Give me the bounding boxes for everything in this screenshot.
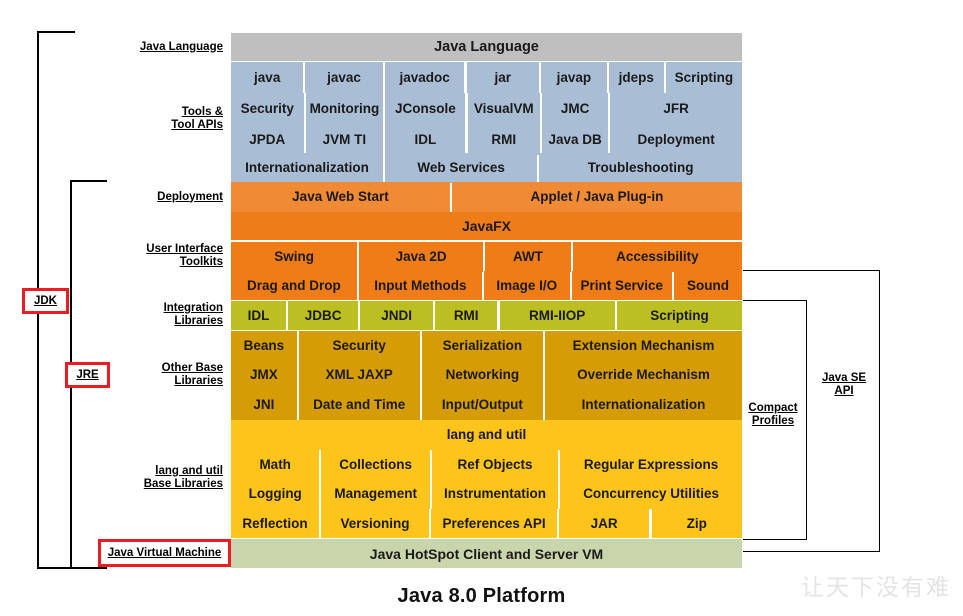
java-language-cell-1: Java Language	[231, 33, 742, 61]
java-se-api-line-2: API	[834, 385, 853, 398]
jre-label-text: JRE	[76, 369, 98, 382]
cell-label: jdeps	[619, 71, 654, 85]
base-libraries-row-3-cell-3: Preferences API	[431, 509, 557, 538]
ui-toolkits-row-2-cell-3: Image I/O	[484, 271, 570, 300]
cell-label: Print Service	[581, 279, 664, 293]
java-se-api-bracket-top-arm	[743, 270, 880, 271]
label-ui-line-2: Toolkits	[180, 256, 223, 269]
compact-profiles-bracket-bottom	[743, 539, 807, 540]
tools-row-2-cell-2: Monitoring	[306, 93, 384, 124]
cell-label: Java DB	[548, 133, 601, 147]
compact-profiles-label: Compact Profiles	[740, 400, 806, 430]
cell-label: XML JAXP	[326, 368, 393, 382]
other-base-row-1-cell-4: Extension Mechanism	[545, 331, 742, 360]
cell-label: JDBC	[305, 309, 342, 323]
other-base-row-2-cell-4: Override Mechanism	[545, 360, 742, 390]
tools-row-4-cell-2: Web Services	[385, 153, 537, 183]
other-base-row-1-cell-1: Beans	[231, 331, 297, 360]
label-other-base-line-2: Libraries	[174, 375, 223, 388]
label-integration-libraries: Integration Libraries	[110, 300, 223, 330]
ui-toolkits-row-2-cell-1: Drag and Drop	[231, 271, 357, 300]
label-integration-line-2: Libraries	[174, 315, 223, 328]
label-deployment: Deployment	[110, 188, 223, 206]
label-deployment-line-1: Deployment	[157, 191, 223, 204]
cell-label: Logging	[249, 487, 302, 501]
integration-libraries-row-cell-1: IDL	[231, 301, 286, 330]
java-se-api-line-1: Java SE	[822, 372, 866, 385]
base-libraries-row-3-cell-1: Reflection	[231, 509, 319, 538]
cell-label: IDL	[248, 309, 270, 323]
jdk-bracket-top	[37, 31, 75, 33]
tools-row-3-cell-5: Java DB	[542, 124, 608, 155]
ui-toolkits-row-1-cell-2: Java 2D	[359, 242, 483, 272]
cell-label: Override Mechanism	[577, 368, 710, 382]
cell-label: JAR	[591, 517, 618, 531]
cell-label: Ref Objects	[458, 458, 533, 472]
label-integration-line-1: Integration	[164, 302, 223, 315]
cell-label: java	[254, 71, 280, 85]
other-base-row-3-cell-2: Date and Time	[299, 390, 420, 420]
tools-row-2-cell-5: JMC	[542, 93, 608, 124]
cell-label: Scripting	[675, 71, 734, 85]
tools-row-1-cell-3: javadoc	[385, 62, 465, 93]
tools-row-3-cell-3: IDL	[385, 124, 465, 155]
label-user-interface-toolkits: User Interface Toolkits	[110, 241, 223, 271]
tools-row-2-cell-6: JFR	[610, 93, 742, 124]
base-libraries-row-1-cell-3: Ref Objects	[432, 450, 558, 479]
tools-row-3-cell-4: RMI	[468, 124, 541, 155]
cell-label: Security	[333, 339, 386, 353]
cell-label: jar	[494, 71, 511, 85]
label-java-language-line-1: Java Language	[140, 41, 223, 54]
java-se-api-label: Java SE API	[810, 370, 878, 400]
other-base-row-2-cell-3: Networking	[422, 360, 543, 390]
cell-label: JNDI	[381, 309, 412, 323]
label-java-virtual-machine: Java Virtual Machine	[98, 539, 231, 567]
cell-label: Reflection	[242, 517, 307, 531]
java-platform-diagram: JDK JRE Compact Profiles Java SE API Jav…	[0, 0, 963, 616]
other-base-row-1-cell-2: Security	[299, 331, 420, 360]
cell-label: Java HotSpot Client and Server VM	[370, 547, 603, 561]
base-libraries-row-3-cell-4: JAR	[559, 509, 650, 538]
cell-label: Zip	[687, 517, 707, 531]
tools-row-3-cell-6: Deployment	[610, 124, 742, 155]
cell-label: Accessibility	[616, 250, 699, 264]
ui-toolkits-row-2-cell-4: Print Service	[572, 271, 673, 300]
ui-toolkits-row-1-cell-3: AWT	[485, 242, 571, 272]
cell-label: Monitoring	[310, 102, 380, 116]
ui-toolkits-row-2-cell-2: Input Methods	[359, 271, 482, 300]
jvm-row-cell-1: Java HotSpot Client and Server VM	[231, 539, 742, 568]
cell-label: VisualVM	[474, 102, 534, 116]
cell-label: JMX	[250, 368, 278, 382]
integration-libraries-row-cell-2: JDBC	[288, 301, 358, 330]
compact-profiles-line-1: Compact	[748, 402, 797, 415]
cell-label: javadoc	[399, 71, 449, 85]
cell-label: Java 2D	[396, 250, 447, 264]
cell-label: Scripting	[650, 309, 709, 323]
jdk-label-text: JDK	[34, 295, 57, 308]
cell-label: Preferences API	[443, 517, 546, 531]
other-base-row-3-cell-3: Input/Output	[422, 390, 543, 420]
cell-label: Management	[334, 487, 417, 501]
tools-row-3-cell-2: JVM TI	[306, 124, 384, 155]
cell-label: lang and util	[447, 428, 527, 442]
compact-profiles-bracket-top	[743, 300, 807, 301]
base-libraries-row-3-cell-2: Versioning	[321, 509, 429, 538]
base-libraries-row-2-cell-1: Logging	[231, 479, 319, 509]
label-other-base-line-1: Other Base	[162, 362, 223, 375]
javafx-row-cell-1: JavaFX	[231, 212, 742, 240]
cell-label: Java Language	[434, 40, 539, 55]
cell-label: RMI-IIOP	[529, 309, 585, 323]
cell-label: Versioning	[341, 517, 410, 531]
deployment-row-cell-1: Java Web Start	[231, 182, 450, 212]
cell-label: Collections	[339, 458, 412, 472]
cell-label: IDL	[415, 133, 437, 147]
cell-label: Swing	[274, 250, 314, 264]
integration-libraries-row-cell-6: Scripting	[617, 301, 742, 330]
label-tools-line-1: Tools &	[182, 106, 223, 119]
base-libraries-row-3-cell-5: Zip	[652, 509, 743, 538]
integration-libraries-row-cell-4: RMI	[435, 301, 498, 330]
label-lang-and-util-base-libraries: lang and util Base Libraries	[110, 463, 223, 493]
tools-row-1-cell-6: jdeps	[609, 62, 664, 93]
cell-label: JConsole	[395, 102, 456, 116]
integration-libraries-row-cell-5: RMI-IIOP	[500, 301, 615, 330]
cell-label: Input/Output	[442, 398, 523, 412]
other-base-row-3-cell-4: Internationalization	[545, 390, 742, 420]
cell-label: Security	[241, 102, 294, 116]
label-java-language: Java Language	[110, 38, 223, 56]
tools-row-2-cell-3: JConsole	[385, 93, 465, 124]
other-base-row-2-cell-2: XML JAXP	[299, 360, 420, 390]
tools-row-1-cell-5: javap	[541, 62, 607, 93]
cell-label: Sound	[687, 279, 729, 293]
compact-profiles-line-2: Profiles	[752, 415, 794, 428]
cell-label: Deployment	[637, 133, 714, 147]
label-jvm-line-1: Java Virtual Machine	[108, 547, 222, 560]
java-se-api-bracket-spine	[879, 270, 880, 552]
label-lang-util-line-2: Base Libraries	[144, 478, 223, 491]
tools-row-3-cell-1: JPDA	[231, 124, 304, 155]
label-tools-line-2: Tool APIs	[171, 119, 223, 132]
tools-row-1-cell-2: javac	[305, 62, 382, 93]
java-se-api-bracket-bottom-arm	[743, 551, 880, 552]
watermark: 让天下没有难	[801, 568, 951, 602]
lang-and-util-row-cell-1: lang and util	[231, 420, 742, 450]
tools-row-2-cell-1: Security	[231, 93, 304, 124]
other-base-row-3-cell-1: JNI	[231, 390, 297, 420]
tools-row-2-cell-4: VisualVM	[468, 93, 541, 124]
ui-toolkits-row-1-cell-1: Swing	[231, 242, 357, 272]
cell-label: Beans	[244, 339, 285, 353]
base-libraries-row-1-cell-1: Math	[231, 450, 319, 479]
cell-label: javac	[327, 71, 361, 85]
cell-label: Image I/O	[496, 279, 557, 293]
deployment-row-cell-2: Applet / Java Plug-in	[452, 182, 742, 212]
cell-label: JavaFX	[462, 219, 511, 233]
cell-label: Applet / Java Plug-in	[531, 190, 664, 204]
cell-label: Internationalization	[245, 161, 369, 175]
cell-label: Concurrency Utilities	[583, 487, 719, 501]
cell-label: AWT	[513, 250, 543, 264]
tools-row-1-cell-7: Scripting	[666, 62, 742, 93]
cell-label: Serialization	[443, 339, 523, 353]
tools-row-1-cell-4: jar	[467, 62, 539, 93]
cell-label: Regular Expressions	[584, 458, 718, 472]
cell-label: Instrumentation	[444, 487, 546, 501]
compact-profiles-bracket-spine	[806, 300, 807, 540]
ui-toolkits-row-2-cell-5: Sound	[674, 271, 742, 300]
integration-libraries-row-cell-3: JNDI	[360, 301, 433, 330]
cell-label: JMC	[561, 102, 590, 116]
cell-label: JFR	[663, 102, 689, 116]
other-base-row-2-cell-1: JMX	[231, 360, 297, 390]
base-libraries-row-2-cell-3: Instrumentation	[432, 479, 558, 509]
label-lang-util-line-1: lang and util	[155, 465, 223, 478]
cell-label: Drag and Drop	[247, 279, 341, 293]
cell-label: Troubleshooting	[588, 161, 694, 175]
cell-label: Java Web Start	[292, 190, 389, 204]
base-libraries-row-1-cell-2: Collections	[321, 450, 430, 479]
cell-label: RMI	[491, 133, 516, 147]
base-libraries-row-2-cell-2: Management	[321, 479, 430, 509]
jdk-label: JDK	[22, 288, 69, 314]
jre-bracket-top	[70, 180, 107, 182]
jre-bracket-bottom	[70, 567, 107, 569]
tools-row-1-cell-1: java	[231, 62, 303, 93]
cell-label: Extension Mechanism	[573, 339, 715, 353]
cell-label: Web Services	[417, 161, 505, 175]
cell-label: javap	[557, 71, 592, 85]
cell-label: RMI	[454, 309, 479, 323]
tools-row-4-cell-1: Internationalization	[231, 153, 383, 183]
ui-toolkits-row-1-cell-4: Accessibility	[573, 242, 742, 272]
label-ui-line-1: User Interface	[146, 243, 223, 256]
other-base-row-1-cell-3: Serialization	[422, 331, 543, 360]
jre-label: JRE	[65, 362, 110, 388]
cell-label: JVM TI	[323, 133, 367, 147]
cell-label: Input Methods	[374, 279, 466, 293]
label-other-base-libraries: Other Base Libraries	[110, 360, 223, 390]
label-tools-and-tool-apis: Tools & Tool APIs	[110, 104, 223, 134]
cell-label: Internationalization	[582, 398, 706, 412]
cell-label: Date and Time	[313, 398, 405, 412]
base-libraries-row-1-cell-4: Regular Expressions	[560, 450, 742, 479]
cell-label: JPDA	[249, 133, 285, 147]
base-libraries-row-2-cell-4: Concurrency Utilities	[560, 479, 742, 509]
cell-label: Math	[259, 458, 291, 472]
cell-label: Networking	[446, 368, 520, 382]
tools-row-4-cell-3: Troubleshooting	[539, 153, 742, 183]
cell-label: JNI	[253, 398, 274, 412]
